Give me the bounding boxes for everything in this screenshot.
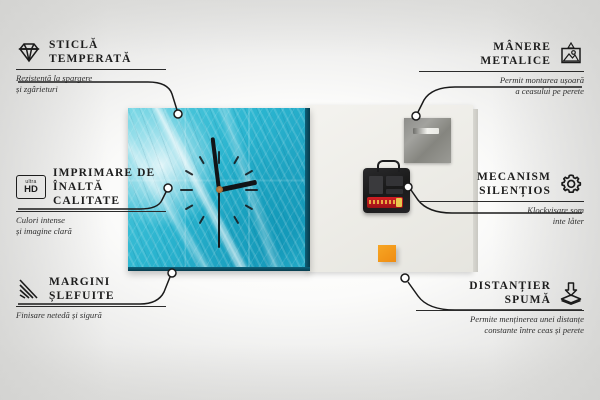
- feature-head: STICLĂ TEMPERATĂ: [16, 38, 166, 66]
- leader-dot-silent-mechanism: [404, 183, 412, 191]
- desc-line-2: și zgârieturi: [16, 84, 58, 94]
- feature-head: DISTANȚIER SPUMĂ: [416, 279, 584, 307]
- feature-divider: [419, 71, 584, 72]
- feature-divider: [16, 211, 166, 212]
- title-line-2: ȘLEFUITE: [49, 290, 115, 302]
- feature-divider: [16, 69, 166, 70]
- feature-description: Finisare netedă și sigură: [16, 310, 166, 321]
- title-line-1: MARGINI: [49, 276, 110, 288]
- title-line-1: STICLĂ: [49, 39, 98, 51]
- desc-line-1: Permite menținerea unei distanțe: [470, 314, 584, 324]
- desc-line-1: Klockvisare som: [527, 205, 584, 215]
- title-line-1: MECANISM: [477, 171, 551, 183]
- gear-icon: [558, 172, 584, 196]
- title-line-1: DISTANȚIER: [469, 280, 551, 292]
- ultra-hd-icon: ultra HD: [16, 175, 46, 199]
- leader-dot-tempered-glass: [174, 110, 182, 118]
- feature-head: ultra HD IMPRIMARE DE ÎNALTĂ CALITATE: [16, 166, 166, 208]
- hd-badge-large: HD: [24, 185, 38, 195]
- leader-dot-metal-handles: [412, 112, 420, 120]
- feature-description: Permite menținerea unei distanțe constan…: [416, 314, 584, 336]
- desc-line-2: și imagine clară: [16, 226, 72, 236]
- feature-title: MARGINI ȘLEFUITE: [49, 275, 115, 303]
- title-line-1: IMPRIMARE DE: [53, 167, 155, 179]
- feature-divider: [416, 310, 584, 311]
- feature-polished-edges: MARGINI ȘLEFUITE Finisare netedă și sigu…: [16, 275, 166, 321]
- title-line-1: MÂNERE: [493, 41, 551, 53]
- leader-dot-foam-spacer: [401, 274, 409, 282]
- arrow-down-pad-icon: [558, 281, 584, 305]
- feature-silent-mechanism: MECANISM SILENȚIOS Klockvisare som inte …: [419, 170, 584, 227]
- infographic-canvas: STICLĂ TEMPERATĂ Rezistentă la spargere …: [0, 0, 600, 400]
- feature-title: IMPRIMARE DE ÎNALTĂ CALITATE: [53, 166, 166, 208]
- desc-line-2: a ceasului pe perete: [515, 86, 584, 96]
- feature-divider: [16, 306, 166, 307]
- desc-line-1: Culori intense: [16, 215, 65, 225]
- title-line-2: TEMPERATĂ: [49, 53, 132, 65]
- feature-description: Rezistentă la spargere și zgârieturi: [16, 73, 166, 95]
- leader-dot-polished-edges: [168, 269, 176, 277]
- desc-line-2: constante între ceas și perete: [484, 325, 584, 335]
- feature-foam-spacer: DISTANȚIER SPUMĂ Permite menținerea unei…: [416, 279, 584, 336]
- feature-head: MECANISM SILENȚIOS: [419, 170, 584, 198]
- diagonal-lines-icon: [16, 277, 42, 301]
- title-line-2: SPUMĂ: [505, 294, 551, 306]
- feature-title: DISTANȚIER SPUMĂ: [469, 279, 551, 307]
- desc-line-1: Permit montarea ușoară: [500, 75, 584, 85]
- feature-tempered-glass: STICLĂ TEMPERATĂ Rezistentă la spargere …: [16, 38, 166, 95]
- desc-line-1: Rezistentă la spargere: [16, 73, 92, 83]
- feature-description: Klockvisare som inte låter: [419, 205, 584, 227]
- diamond-icon: [16, 40, 42, 64]
- desc-line-2: inte låter: [553, 216, 584, 226]
- title-line-2: METALICE: [480, 55, 551, 67]
- desc-line-1: Finisare netedă și sigură: [16, 310, 102, 320]
- feature-head: MÂNERE METALICE: [419, 40, 584, 68]
- title-line-2: ÎNALTĂ CALITATE: [53, 181, 120, 207]
- feature-divider: [419, 201, 584, 202]
- feature-metal-handles: MÂNERE METALICE Permit montarea ușoară a…: [419, 40, 584, 97]
- title-line-2: SILENȚIOS: [479, 185, 551, 197]
- feature-hd-print: ultra HD IMPRIMARE DE ÎNALTĂ CALITATE Cu…: [16, 166, 166, 237]
- feature-title: MECANISM SILENȚIOS: [477, 170, 551, 198]
- feature-description: Permit montarea ușoară a ceasului pe per…: [419, 75, 584, 97]
- feature-head: MARGINI ȘLEFUITE: [16, 275, 166, 303]
- feature-description: Culori intense și imagine clară: [16, 215, 166, 237]
- picture-frame-hanger-icon: [558, 42, 584, 66]
- feature-title: MÂNERE METALICE: [480, 40, 551, 68]
- feature-title: STICLĂ TEMPERATĂ: [49, 38, 132, 66]
